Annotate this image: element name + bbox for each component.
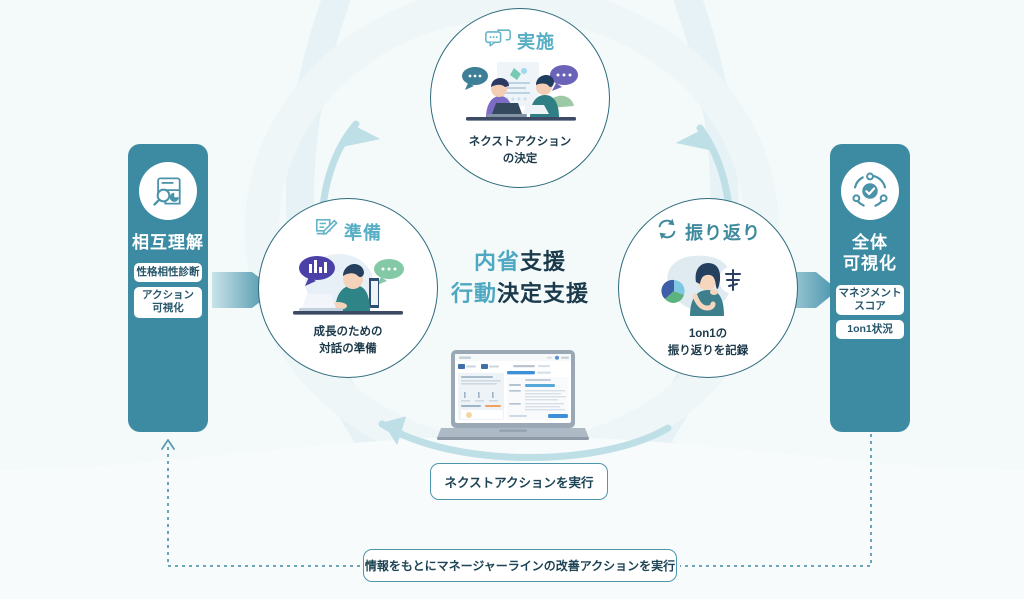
panel-overall-visualization[interactable]: 全体 可視化 マネジメント スコア 1on1状況 <box>830 144 910 432</box>
node-prepare-caption: 成長のための 対話の準備 <box>314 324 383 357</box>
laptop-dashboard-screenshot <box>437 348 589 449</box>
chip-management-score[interactable]: マネジメント スコア <box>836 285 904 315</box>
chip-1on1-status[interactable]: 1on1状況 <box>836 320 904 339</box>
node-review-label: 振り返り <box>685 219 761 245</box>
center-line-2: 行動決定支援 <box>414 278 626 310</box>
callout-bottom-label: 情報をもとにマネージャーラインの改善アクションを実行 <box>365 557 675 574</box>
person-laptop-chart-illustration <box>285 248 411 323</box>
caption-line2: の決定 <box>469 151 572 168</box>
center-line-1: 内省支援 <box>414 246 626 278</box>
caption-line1: 成長のための <box>314 324 383 341</box>
node-execute-header: 実施 <box>485 27 555 54</box>
node-execute[interactable]: 実施 <box>430 8 610 188</box>
panel-right-title-line2: 可視化 <box>843 253 897 274</box>
check-target-icon <box>841 162 899 220</box>
chat-bubbles-icon <box>485 27 511 54</box>
node-execute-caption: ネクストアクション の決定 <box>469 134 572 167</box>
callout-action-label: ネクストアクションを実行 <box>444 472 593 491</box>
center-line2-highlight: 行動 <box>451 281 497 306</box>
node-review[interactable]: 振り返り <box>618 198 798 378</box>
panel-right-title: 全体 可視化 <box>843 232 897 275</box>
two-people-laptop-illustration <box>454 56 586 133</box>
node-execute-label: 実施 <box>517 28 555 54</box>
caption-line2: 振り返りを記録 <box>668 343 749 360</box>
center-line1-highlight: 内省 <box>474 249 520 274</box>
node-prepare-header: 準備 <box>314 217 382 246</box>
panel-right-title-line1: 全体 <box>843 232 897 253</box>
chip-personality-diagnosis[interactable]: 性格相性診断 <box>134 263 202 282</box>
callout-manager-improvement[interactable]: 情報をもとにマネージャーラインの改善アクションを実行 <box>363 549 677 582</box>
callout-execute-next-action[interactable]: ネクストアクションを実行 <box>430 463 608 500</box>
diagram-canvas: 相互理解 性格相性診断 アクション 可視化 全体 可視化 <box>0 0 1024 599</box>
node-prepare-label: 準備 <box>344 219 382 245</box>
caption-line1: 1on1の <box>668 326 749 343</box>
center-line2-rest: 決定支援 <box>497 281 589 306</box>
center-value-proposition: 内省支援 行動決定支援 <box>414 246 626 310</box>
node-review-caption: 1on1の 振り返りを記録 <box>668 326 749 359</box>
person-thinking-illustration <box>648 248 768 325</box>
caption-line1: ネクストアクション <box>469 134 572 151</box>
panel-mutual-understanding[interactable]: 相互理解 性格相性診断 アクション 可視化 <box>128 144 208 432</box>
magnifier-document-icon <box>139 162 197 220</box>
node-review-header: 振り返り <box>655 217 761 246</box>
chip-label: アクション 可視化 <box>142 289 194 315</box>
chip-label: マネジメント スコア <box>839 287 902 313</box>
chip-action-visualization[interactable]: アクション 可視化 <box>134 287 202 317</box>
center-line1-rest: 支援 <box>520 249 566 274</box>
edit-document-icon <box>314 217 338 246</box>
chip-label: 性格相性診断 <box>137 266 200 279</box>
caption-line2: 対話の準備 <box>314 341 383 358</box>
panel-left-title: 相互理解 <box>132 232 204 253</box>
node-prepare[interactable]: 準備 <box>258 198 438 378</box>
refresh-cycle-icon <box>655 217 679 246</box>
chip-label: 1on1状況 <box>847 323 893 336</box>
